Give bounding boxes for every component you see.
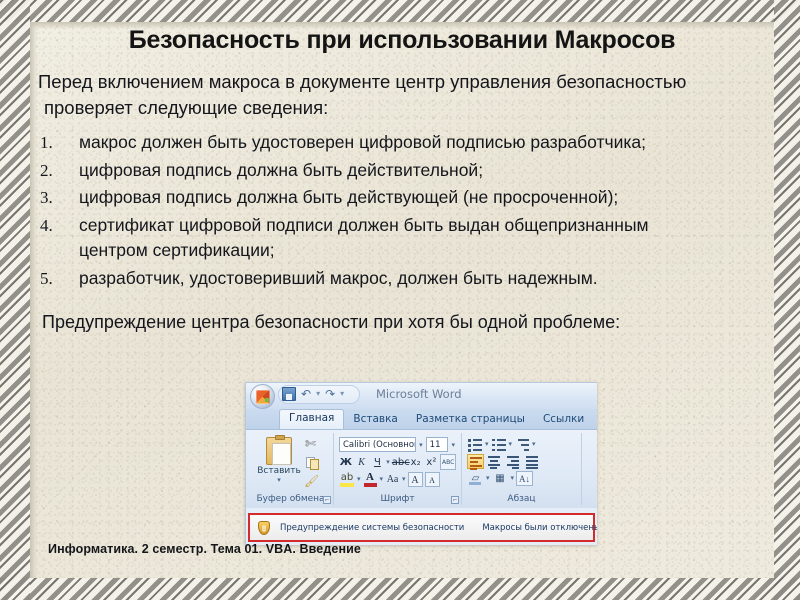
save-icon[interactable] (282, 387, 296, 401)
highlight-color-bar (340, 483, 354, 487)
borders-icon[interactable]: ▦ (492, 471, 509, 486)
sort-icon[interactable]: A↓ (516, 471, 533, 486)
shading-color-bar (469, 482, 481, 485)
align-right-icon[interactable] (505, 454, 522, 469)
footer-note: Информатика. 2 семестр. Тема 01. VBA. Вв… (48, 542, 361, 556)
italic-button[interactable]: К (355, 455, 369, 470)
list-item: 2. цифровая подпись должна быть действит… (34, 158, 754, 184)
multilevel-list-dropdown-icon[interactable]: ▾ (532, 437, 536, 452)
list-item-text-continued: центром сертификации; (79, 238, 754, 264)
copy-icon-page-front (310, 459, 319, 470)
striped-border-top (0, 0, 800, 22)
clear-formatting-button[interactable]: ABC (440, 454, 456, 470)
font-name-input[interactable]: Calibri (Основной тек (339, 437, 416, 452)
format-painter-icon[interactable]: 🖌 (304, 473, 321, 489)
customize-qat-icon[interactable]: ▾ (340, 387, 344, 401)
numbered-list-icon[interactable] (491, 437, 507, 452)
ribbon-group-clipboard: Вставить ▾ ✄ 🖌 Буфер обмена ⌐ (248, 433, 334, 505)
redo-icon[interactable]: ↷ (325, 387, 335, 401)
paragraph-group-label: Абзац (462, 494, 581, 504)
ribbon-group-paragraph: ▾ ▾ ▾ (462, 433, 582, 505)
bold-button[interactable]: Ж (339, 455, 353, 470)
align-left-icon[interactable] (467, 454, 484, 469)
list-item-text: сертификат цифровой подписи должен быть … (79, 215, 649, 235)
striped-border-left (0, 0, 30, 600)
list-item-text: цифровая подпись должна быть действитель… (79, 160, 483, 180)
security-warning-title: Предупреждение системы безопасности (280, 523, 464, 533)
underline-button[interactable]: Ч (371, 455, 385, 470)
paste-button[interactable]: Вставить ▾ (256, 435, 302, 491)
superscript-button[interactable]: x² (425, 455, 439, 470)
clipboard-clip-icon (275, 435, 285, 440)
undo-dropdown-icon[interactable]: ▾ (316, 387, 320, 401)
word-ribbon: Вставить ▾ ✄ 🖌 Буфер обмена ⌐ Calibri (246, 429, 597, 508)
slide: Безопасность при использовании Макросов … (0, 0, 800, 600)
multilevel-list-icon[interactable] (514, 437, 530, 452)
numbered-list-dropdown-icon[interactable]: ▾ (509, 437, 513, 452)
list-item: 3. цифровая подпись должна быть действую… (34, 185, 754, 211)
bullet-list-dropdown-icon[interactable]: ▾ (485, 437, 489, 452)
font-color-dropdown-icon[interactable]: ▾ (380, 472, 384, 487)
word-ribbon-tabs: Главная Вставка Разметка страницы Ссылки… (246, 409, 597, 429)
list-item: 5. разработчик, удостоверивший макрос, д… (34, 266, 754, 292)
list-item-marker: 2. (40, 158, 66, 184)
subscript-button[interactable]: x₂ (409, 455, 423, 470)
tab-references[interactable]: Ссылки (534, 410, 593, 429)
align-center-icon[interactable] (486, 454, 503, 469)
list-item: 4. сертификат цифровой подписи должен бы… (34, 213, 754, 264)
shading-icon[interactable]: ▱ (467, 471, 484, 486)
word-app-title: Microsoft Word (376, 387, 462, 401)
tab-insert[interactable]: Вставка (344, 410, 407, 429)
tab-home[interactable]: Главная (279, 409, 344, 429)
office-button-icon[interactable] (250, 384, 275, 409)
security-warning-bar: Предупреждение системы безопасности Макр… (248, 513, 595, 542)
tab-mailings[interactable]: Рас (593, 410, 597, 429)
word-titlebar: ↶ ▾ ↷ ▾ Microsoft Word (246, 383, 597, 409)
office-logo-square-icon (265, 398, 269, 402)
list-item-marker: 5. (40, 266, 66, 292)
font-color-glyph: A (366, 471, 374, 483)
intro-paragraph: Перед включением макроса в документе цен… (38, 69, 752, 121)
list-item-text: макрос должен быть удостоверен цифровой … (79, 132, 646, 152)
slide-content: Безопасность при использовании Макросов … (30, 22, 774, 578)
list-item-marker: 4. (40, 213, 66, 239)
font-dialog-launcher-icon[interactable]: ⌐ (451, 496, 459, 504)
intro-line-2: проверяет следующие сведения: (38, 95, 752, 121)
borders-dropdown-icon[interactable]: ▾ (511, 471, 515, 486)
intro-line-1: Перед включением макроса в документе цен… (38, 71, 686, 92)
scissors-icon[interactable]: ✄ (305, 437, 322, 453)
striped-border-right (774, 0, 800, 600)
clipboard-group-label: Буфер обмена (248, 494, 333, 504)
bullet-list-icon[interactable] (467, 437, 483, 452)
striped-border-bottom (0, 578, 800, 600)
page-title: Безопасность при использовании Макросов (30, 26, 774, 55)
font-size-dropdown-icon[interactable]: ▾ (450, 441, 456, 449)
undo-icon[interactable]: ↶ (301, 387, 311, 401)
underline-dropdown-icon[interactable]: ▾ (386, 455, 390, 470)
align-justify-icon[interactable] (524, 454, 541, 469)
font-group-label: Шрифт (334, 494, 461, 504)
grow-font-button[interactable]: A (408, 472, 423, 487)
list-item: 1. макрос должен быть удостоверен цифров… (34, 130, 754, 156)
list-item-text: разработчик, удостоверивший макрос, долж… (79, 268, 598, 288)
change-case-button[interactable]: Aa (385, 472, 400, 487)
highlight-glyph: ab (341, 472, 353, 483)
requirements-list: 1. макрос должен быть удостоверен цифров… (34, 130, 754, 293)
text-highlight-button[interactable]: ab (339, 472, 355, 487)
tab-page-layout[interactable]: Разметка страницы (407, 410, 534, 429)
list-item-marker: 3. (40, 185, 66, 211)
quick-access-toolbar: ↶ ▾ ↷ ▾ (282, 387, 344, 401)
shrink-font-button[interactable]: A (425, 472, 440, 487)
clipboard-dialog-launcher-icon[interactable]: ⌐ (323, 496, 331, 504)
font-color-bar (364, 483, 377, 487)
copy-icon[interactable] (305, 455, 322, 471)
font-color-button[interactable]: A (363, 472, 378, 487)
strikethrough-button[interactable]: abc (392, 455, 407, 470)
warning-caption: Предупреждение центра безопасности при х… (42, 310, 762, 334)
ribbon-group-font: Calibri (Основной тек ▾ 11 ▾ Ж К Ч ▾ abc… (334, 433, 462, 505)
clipboard-icon (266, 437, 292, 465)
shield-icon (258, 521, 270, 535)
font-size-input[interactable]: 11 (426, 437, 449, 452)
list-item-marker: 1. (40, 130, 66, 156)
paste-dropdown-icon[interactable]: ▾ (256, 477, 302, 484)
highlight-dropdown-icon[interactable]: ▾ (357, 472, 361, 487)
font-name-dropdown-icon[interactable]: ▾ (418, 441, 424, 449)
list-item-text: цифровая подпись должна быть действующей… (79, 187, 618, 207)
shading-dropdown-icon[interactable]: ▾ (486, 471, 490, 486)
security-warning-detail: Макросы были отключены (482, 523, 597, 533)
word-screenshot-image: ↶ ▾ ↷ ▾ Microsoft Word Главная Вставка Р… (245, 382, 597, 545)
change-case-dropdown-icon[interactable]: ▾ (402, 472, 406, 487)
